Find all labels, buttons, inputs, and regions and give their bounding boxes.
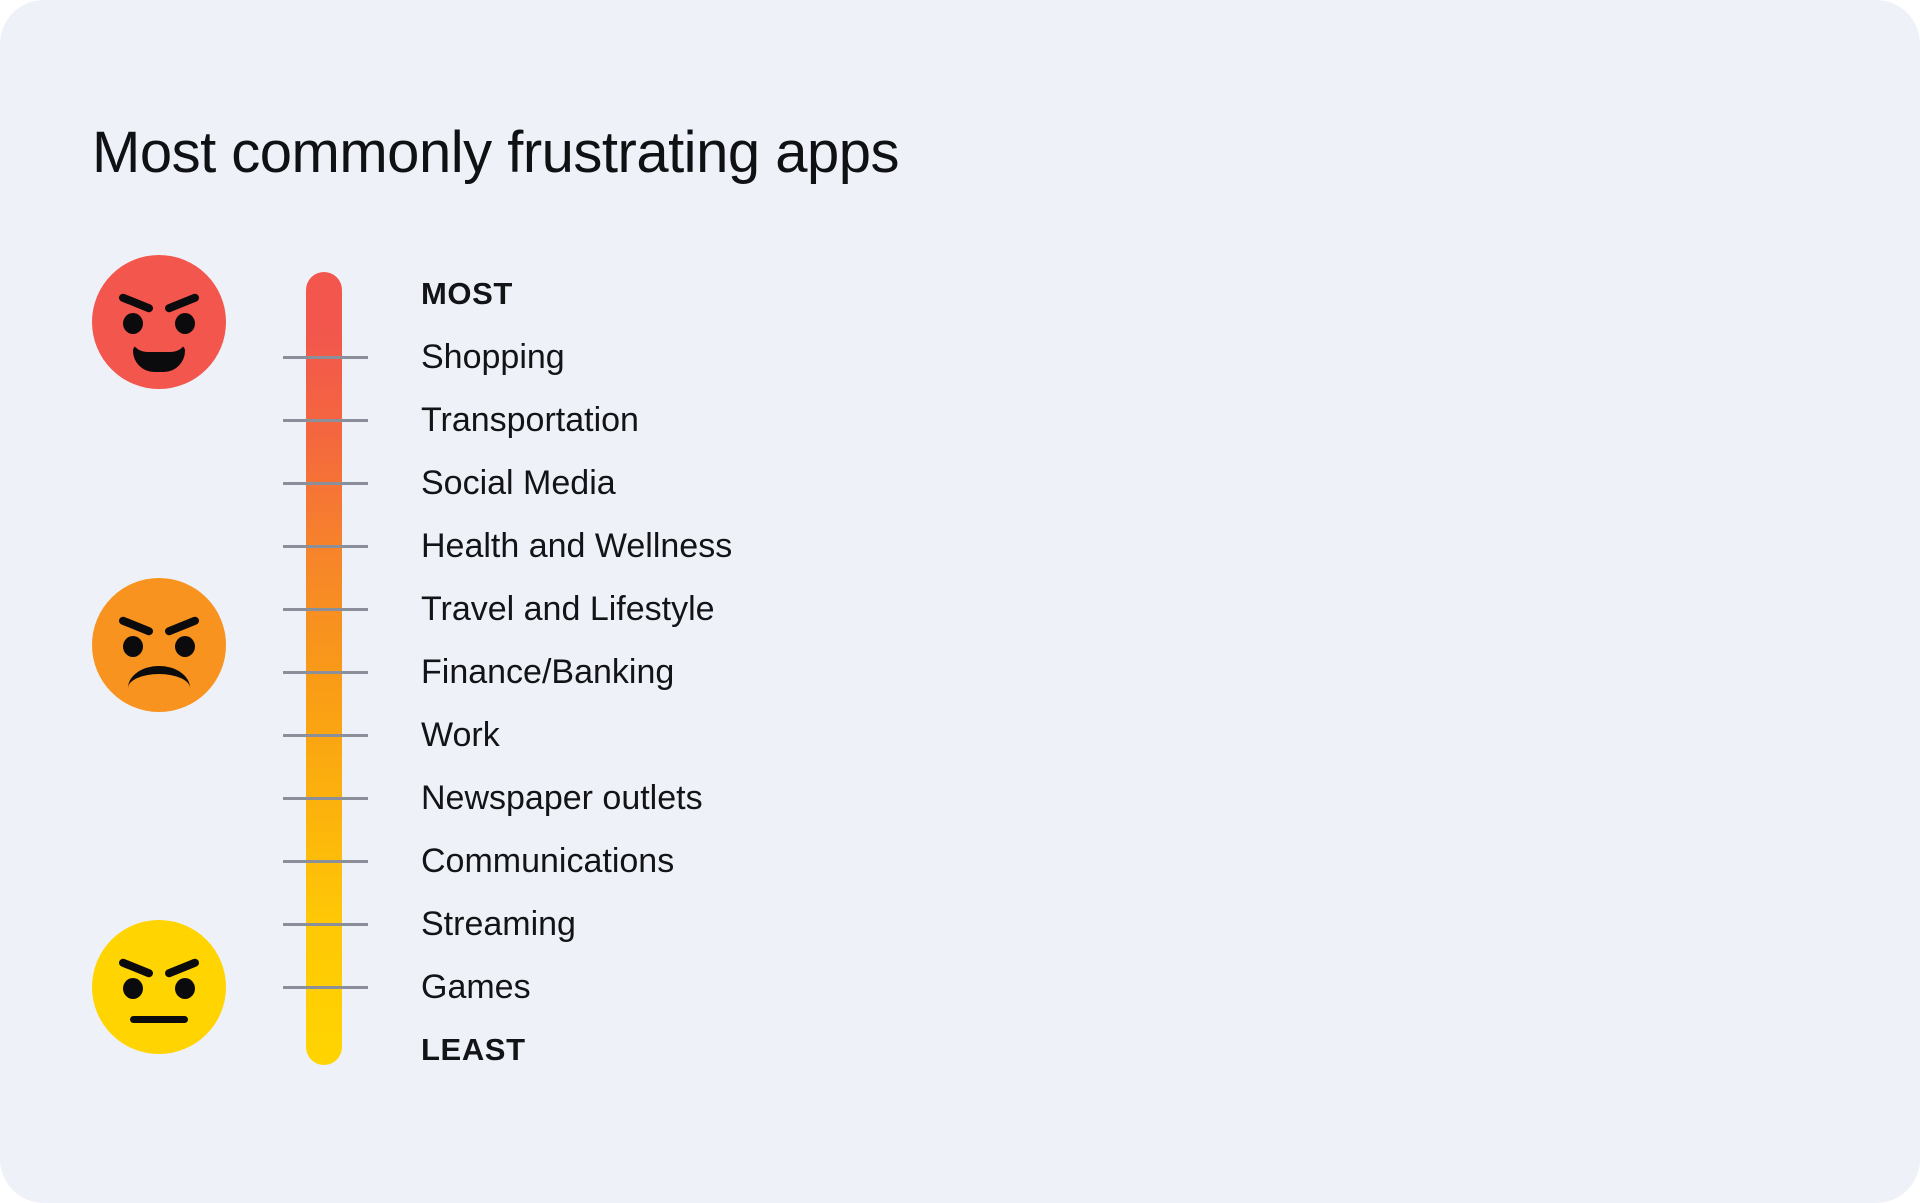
scale-tick: [283, 734, 368, 737]
scale-tick: [283, 860, 368, 863]
eye-right: [175, 978, 195, 999]
frustration-gradient-bar: [306, 272, 342, 1065]
eyebrow-left: [118, 293, 154, 314]
eyebrow-left: [118, 958, 154, 979]
eye-right: [175, 313, 195, 334]
scale-tick: [283, 797, 368, 800]
list-item: Health and Wellness: [421, 514, 1321, 577]
scale-tick: [283, 419, 368, 422]
mouth-open-frown: [133, 345, 185, 372]
list-item: Newspaper outlets: [421, 766, 1321, 829]
eyebrow-right: [164, 616, 200, 637]
list-item: Work: [421, 703, 1321, 766]
eye-right: [175, 636, 195, 657]
ranked-app-list: MOSTShoppingTransportationSocial MediaHe…: [421, 262, 1321, 1081]
scale-tick: [283, 671, 368, 674]
scale-tick: [283, 356, 368, 359]
scale-endpoint-label: MOST: [421, 262, 1321, 325]
angry-face-yellow-icon: [92, 920, 226, 1054]
scale-tick: [283, 608, 368, 611]
infographic-card: Most commonly frustrating apps MOSTShopp…: [0, 0, 1920, 1203]
scale-tick: [283, 986, 368, 989]
mouth-curved-frown: [128, 666, 190, 698]
list-item: Communications: [421, 829, 1321, 892]
angry-face-orange-icon: [92, 578, 226, 712]
angry-face-red-icon: [92, 255, 226, 389]
scale-tick: [283, 923, 368, 926]
eye-left: [123, 636, 143, 657]
scale-tick: [283, 545, 368, 548]
mouth-flat: [130, 1016, 188, 1023]
scale-endpoint-label: LEAST: [421, 1018, 1321, 1081]
list-item: Streaming: [421, 892, 1321, 955]
eye-left: [123, 313, 143, 334]
page-title: Most commonly frustrating apps: [92, 124, 899, 182]
list-item: Transportation: [421, 388, 1321, 451]
list-item: Social Media: [421, 451, 1321, 514]
eyebrow-right: [164, 958, 200, 979]
list-item: Shopping: [421, 325, 1321, 388]
list-item: Finance/Banking: [421, 640, 1321, 703]
list-item: Games: [421, 955, 1321, 1018]
list-item: Travel and Lifestyle: [421, 577, 1321, 640]
eye-left: [123, 978, 143, 999]
scale-tick: [283, 482, 368, 485]
eyebrow-right: [164, 293, 200, 314]
eyebrow-left: [118, 616, 154, 637]
